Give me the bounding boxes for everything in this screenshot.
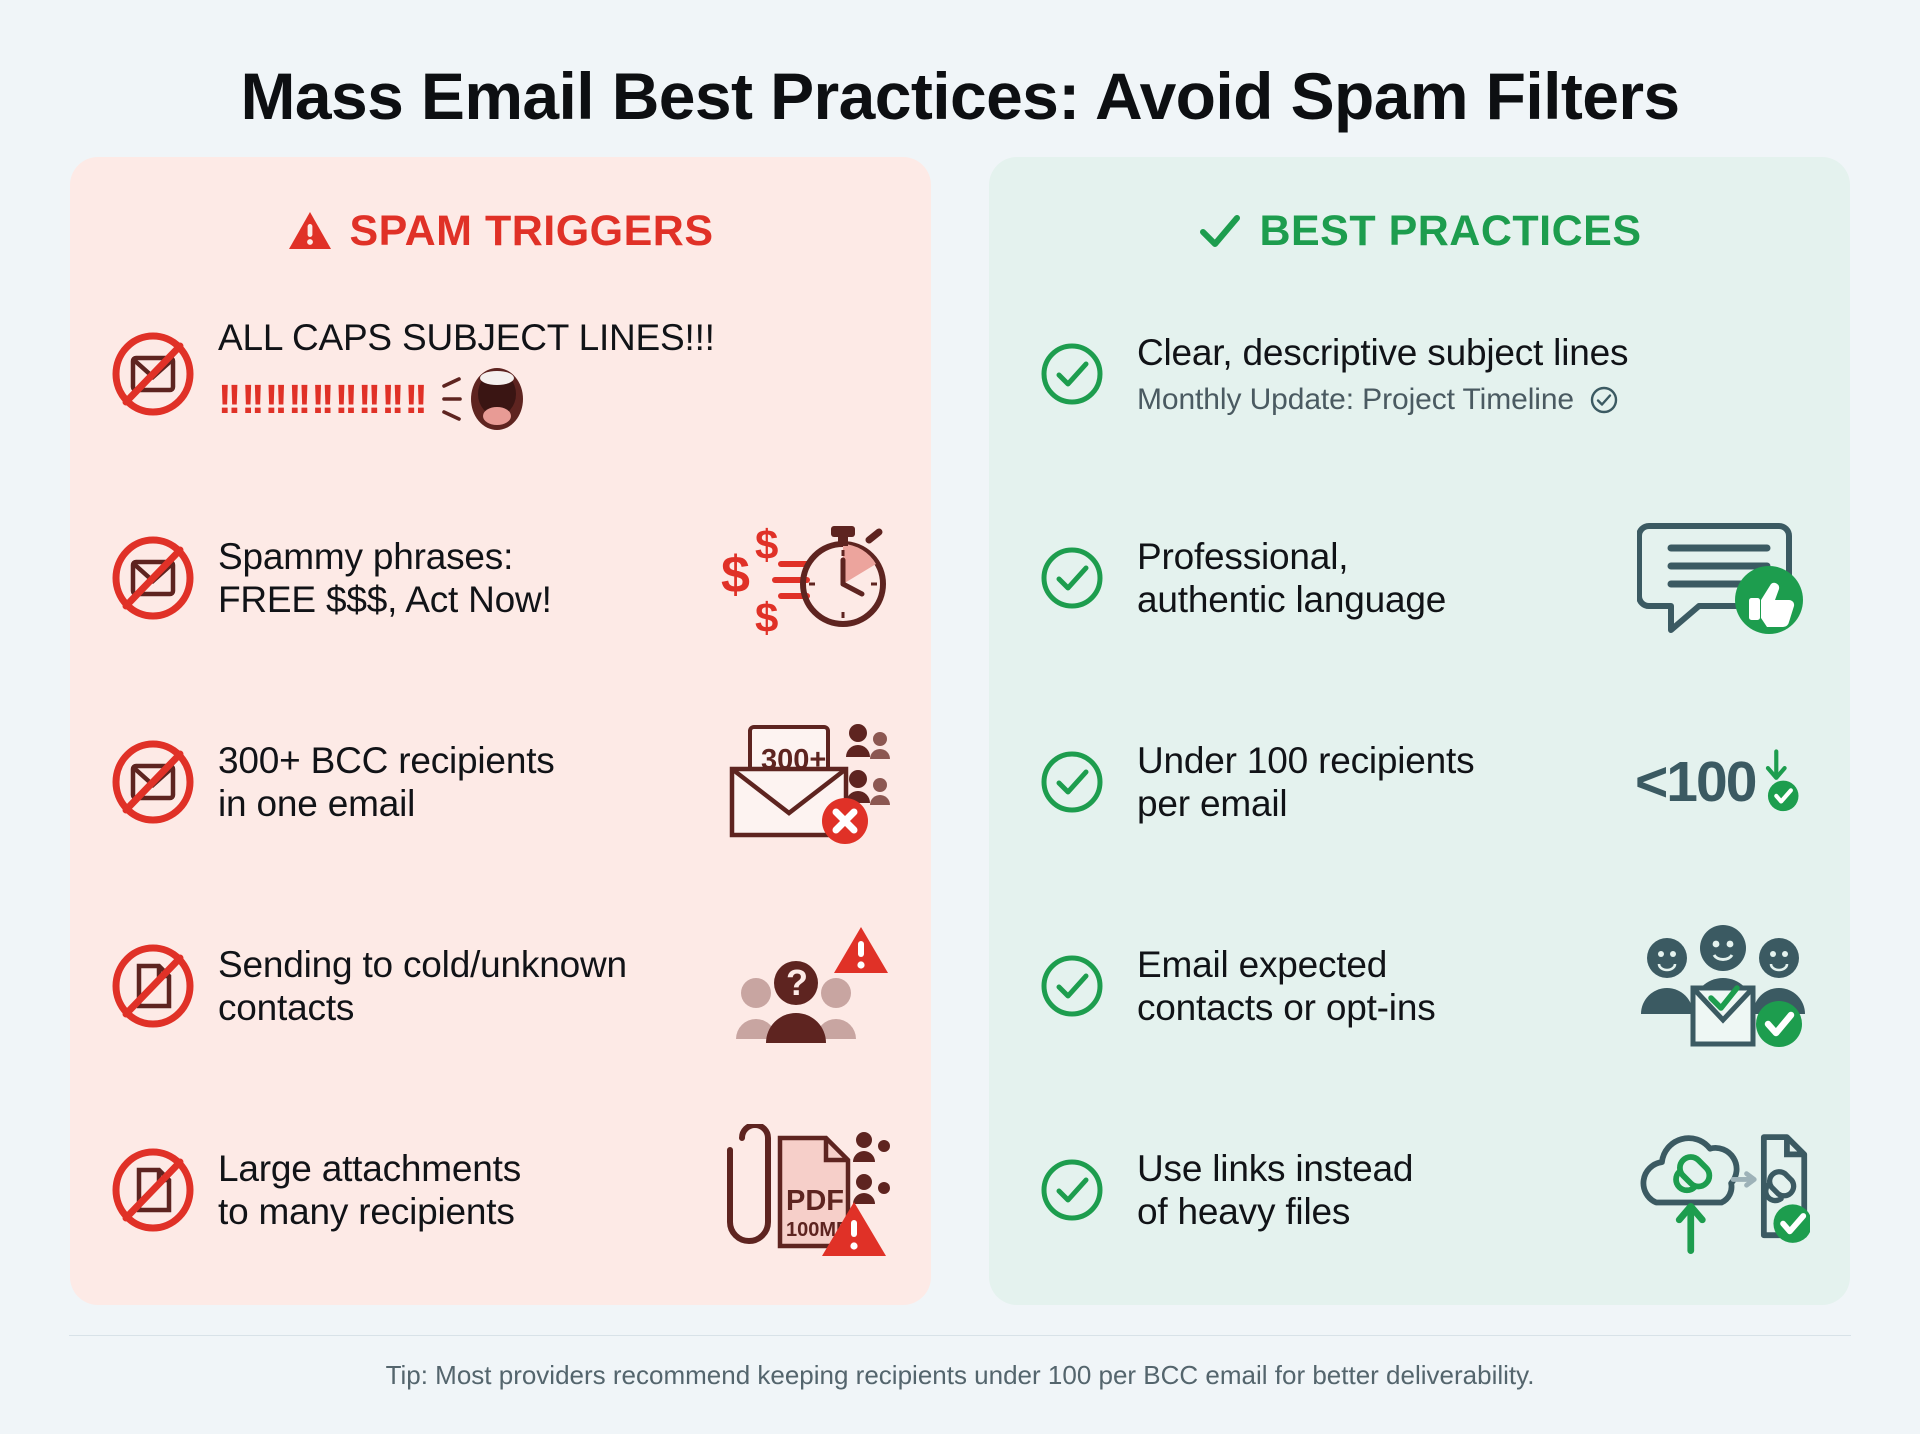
best-item-subtitle: Monthly Update: Project Timeline: [1137, 382, 1810, 417]
spam-item-cold-contacts-label: Sending to cold/unknown contacts: [218, 943, 694, 1030]
best-item-use-links: Use links instead of heavy files: [1029, 1115, 1810, 1265]
under-100-value: <100: [1635, 749, 1755, 815]
best-item-under-100-label: Under 100 recipients per email: [1137, 739, 1613, 826]
best-item-line1: Email expected: [1137, 944, 1387, 985]
check-circle-icon: [1029, 331, 1115, 417]
spam-item-all-caps-label: ALL CAPS SUBJECT LINES!!!: [218, 316, 891, 360]
shouting-mouth-icon: [442, 366, 534, 432]
exclamation-pair: !!: [218, 379, 237, 420]
dollar-stopwatch-icon: $ $ $: [716, 512, 891, 644]
spam-item-line1: Spammy phrases:: [218, 536, 513, 577]
exclamation-pair: !!: [381, 379, 400, 420]
check-circle-icon: [1029, 943, 1115, 1029]
spam-item-line2: contacts: [218, 987, 354, 1028]
check-circle-small-icon: [1590, 386, 1618, 414]
best-panel-header-label: BEST PRACTICES: [1259, 207, 1641, 256]
svg-text:?: ?: [786, 962, 808, 1003]
people-envelope-check-icon: [1635, 920, 1810, 1052]
best-item-line2: of heavy files: [1137, 1191, 1350, 1232]
spam-item-line1: Large attachments: [218, 1148, 521, 1189]
chat-thumbsup-icon: [1635, 512, 1810, 644]
exclamation-marks-decoration: !! !! !! !! !! !! !! !! !!: [218, 366, 891, 432]
spam-item-bcc-label: 300+ BCC recipients in one email: [218, 739, 694, 826]
svg-text:$: $: [721, 546, 750, 604]
exclamation-pair: !!: [405, 379, 424, 420]
spam-item-line1: Sending to cold/unknown: [218, 944, 627, 985]
best-item-subject-lines-label: Clear, descriptive subject lines Monthly…: [1137, 331, 1810, 418]
footer-tip: Tip: Most providers recommend keeping re…: [0, 1305, 1920, 1391]
check-circle-icon: [1029, 1147, 1115, 1233]
best-item-line2: contacts or opt-ins: [1137, 987, 1436, 1028]
best-items-list: Clear, descriptive subject lines Monthly…: [1029, 295, 1810, 1265]
spam-item-line2: to many recipients: [218, 1191, 515, 1232]
warning-triangle-icon: [287, 210, 333, 252]
best-item-line1: Clear, descriptive subject lines: [1137, 332, 1628, 373]
page-title: Mass Email Best Practices: Avoid Spam Fi…: [0, 0, 1920, 131]
best-item-expected-contacts-label: Email expected contacts or opt-ins: [1137, 943, 1613, 1030]
spam-items-list: ALL CAPS SUBJECT LINES!!! !! !! !! !! !!…: [110, 295, 891, 1265]
best-item-use-links-label: Use links instead of heavy files: [1137, 1147, 1613, 1234]
check-icon: [1197, 210, 1243, 252]
best-item-line1: Use links instead: [1137, 1148, 1413, 1189]
spam-item-all-caps-body: ALL CAPS SUBJECT LINES!!! !! !! !! !! !!…: [218, 316, 891, 432]
footer-tip-text: Tip: Most providers recommend keeping re…: [0, 1336, 1920, 1391]
best-item-line2: authentic language: [1137, 579, 1446, 620]
spam-item-bcc-recipients: 300+ BCC recipients in one email 300+: [110, 707, 891, 857]
exclamation-pair: !!: [358, 379, 377, 420]
spam-item-large-attachments-label: Large attachments to many recipients: [218, 1147, 694, 1234]
no-document-icon: [110, 943, 196, 1029]
best-item-professional-language: Professional, authentic language: [1029, 503, 1810, 653]
check-circle-icon: [1029, 535, 1115, 621]
best-item-professional-label: Professional, authentic language: [1137, 535, 1613, 622]
exclamation-pair: !!: [311, 379, 330, 420]
under-100-arrow-check-icon: <100: [1635, 716, 1810, 848]
no-document-icon: [110, 1147, 196, 1233]
best-item-line1: Under 100 recipients: [1137, 740, 1474, 781]
spam-item-spammy-phrases: Spammy phrases: FREE $$$, Act Now! $ $ $: [110, 503, 891, 653]
no-envelope-icon: [110, 535, 196, 621]
pdf-label: PDF: [786, 1185, 844, 1217]
best-item-subtitle-text: Monthly Update: Project Timeline: [1137, 383, 1574, 416]
best-item-under-100: Under 100 recipients per email <100: [1029, 707, 1810, 857]
exclamation-pair: !!: [265, 379, 284, 420]
svg-text:$: $: [755, 594, 778, 641]
infographic-page: Mass Email Best Practices: Avoid Spam Fi…: [0, 0, 1920, 1434]
cloud-link-file-icon: [1635, 1124, 1810, 1256]
svg-text:$: $: [755, 521, 778, 568]
exclamation-pair: !!: [335, 379, 354, 420]
best-panel-header: BEST PRACTICES: [1029, 201, 1810, 261]
check-circle-icon: [1029, 739, 1115, 825]
best-item-line1: Professional,: [1137, 536, 1348, 577]
best-item-line2: per email: [1137, 783, 1287, 824]
spam-item-line1: 300+ BCC recipients: [218, 740, 555, 781]
spam-item-spammy-phrases-label: Spammy phrases: FREE $$$, Act Now!: [218, 535, 694, 622]
spam-item-all-caps: ALL CAPS SUBJECT LINES!!! !! !! !! !! !!…: [110, 299, 891, 449]
spam-item-line2: in one email: [218, 783, 415, 824]
best-practices-panel: BEST PRACTICES Clear, descriptive subjec…: [989, 157, 1850, 1305]
envelope-300plus-people-x-icon: 300+: [716, 716, 891, 848]
spam-item-large-attachments: Large attachments to many recipients PDF…: [110, 1115, 891, 1265]
exclamation-pair: !!: [241, 379, 260, 420]
best-item-expected-contacts: Email expected contacts or opt-ins: [1029, 911, 1810, 1061]
spam-panel-header: SPAM TRIGGERS: [110, 201, 891, 261]
spam-triggers-panel: SPAM TRIGGERS ALL CAPS SUBJECT LINE: [70, 157, 931, 1305]
unknown-contacts-warning-icon: ?: [716, 920, 891, 1052]
exclamation-pair: !!: [288, 379, 307, 420]
paperclip-pdf-warning-icon: PDF 100MB: [716, 1124, 891, 1256]
spam-item-cold-contacts: Sending to cold/unknown contacts ?: [110, 911, 891, 1061]
no-envelope-icon: [110, 331, 196, 417]
best-item-subject-lines: Clear, descriptive subject lines Monthly…: [1029, 299, 1810, 449]
spam-item-line2: FREE $$$, Act Now!: [218, 579, 552, 620]
no-envelope-icon: [110, 739, 196, 825]
spam-panel-header-label: SPAM TRIGGERS: [349, 207, 713, 256]
panels-container: SPAM TRIGGERS ALL CAPS SUBJECT LINE: [0, 131, 1920, 1305]
